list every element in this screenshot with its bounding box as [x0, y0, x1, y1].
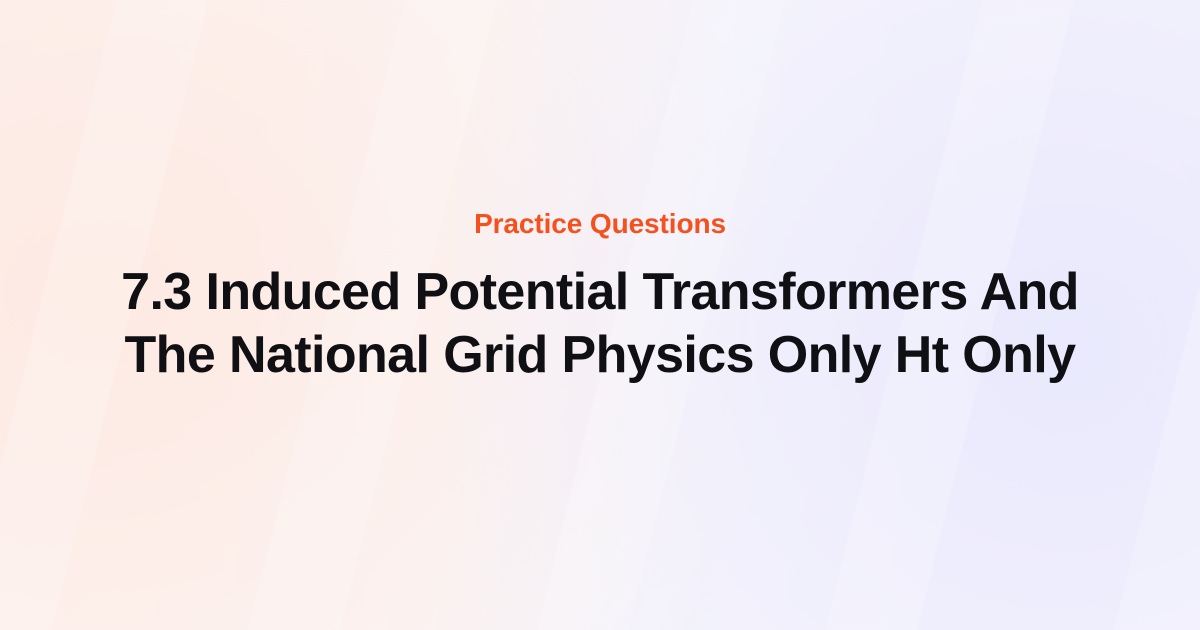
category-label: Practice Questions [474, 208, 726, 239]
page-title: 7.3 Induced Potential Transformers And T… [121, 261, 1079, 386]
share-card: Practice Questions 7.3 Induced Potential… [0, 0, 1200, 630]
card-content: Practice Questions 7.3 Induced Potential… [0, 0, 1200, 630]
card-content-inner: Practice Questions 7.3 Induced Potential… [121, 208, 1079, 386]
